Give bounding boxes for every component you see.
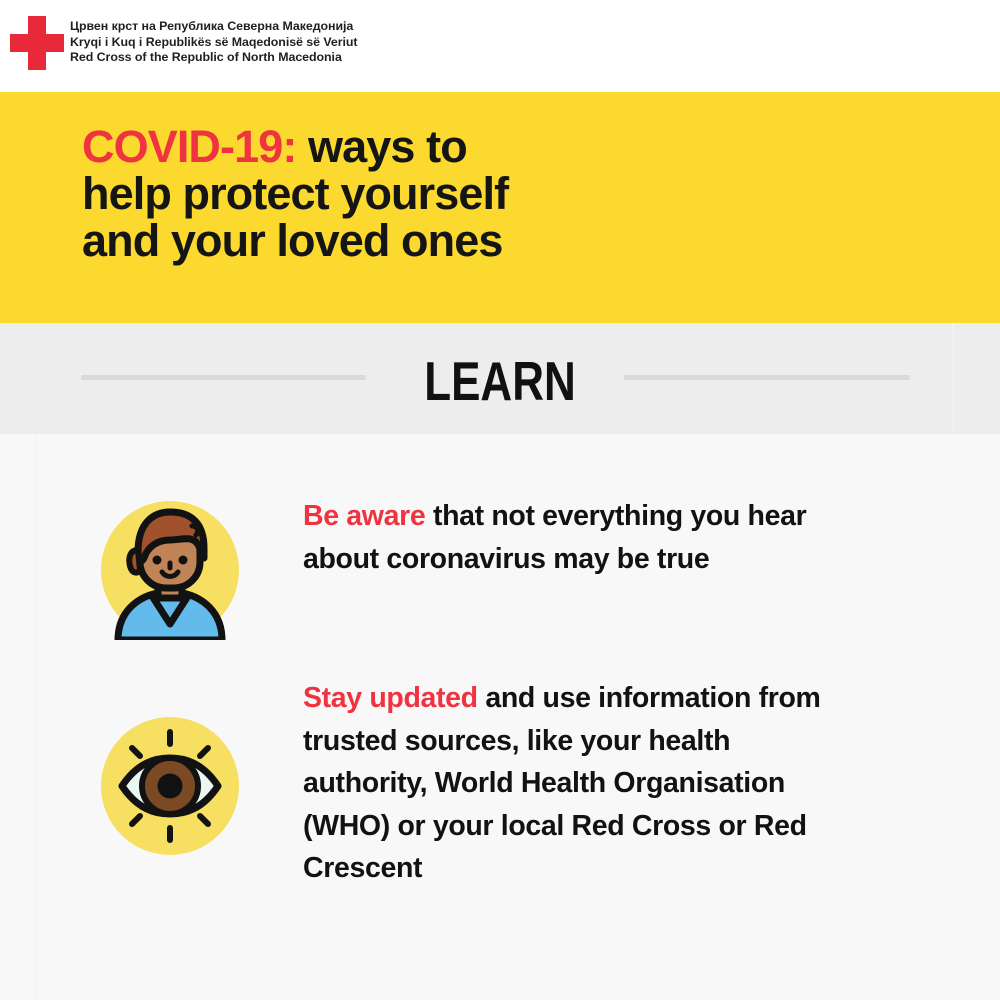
headline-line1-rest: ways to <box>296 121 466 172</box>
organisation-name-mk: Црвен крст на Република Северна Македони… <box>70 19 358 35</box>
tip-text: Be aware that not everything you hear ab… <box>245 495 855 580</box>
tip-item: Stay updated and use information from tr… <box>95 677 855 890</box>
band-seam <box>952 323 954 434</box>
tip-text: Stay updated and use information from tr… <box>245 677 855 890</box>
content-area: Be aware that not everything you hear ab… <box>0 434 1000 1000</box>
divider-rule-right <box>624 375 910 380</box>
eye-icon <box>100 716 240 856</box>
headline-accent: COVID-19: <box>82 121 296 172</box>
tip-accent: Stay updated <box>303 682 478 714</box>
tip-icon-slot <box>95 677 245 856</box>
cross-vertical-bar <box>28 16 46 70</box>
tip-accent: Be aware <box>303 500 425 532</box>
logo-bar: Црвен крст на Република Северна Македони… <box>0 0 1000 92</box>
page-title: COVID-19: ways to help protect yourself … <box>82 123 942 264</box>
headline-band: COVID-19: ways to help protect yourself … <box>0 92 1000 323</box>
headline-line3: and your loved ones <box>82 215 503 266</box>
tip-icon-slot <box>95 495 245 640</box>
red-cross-logo <box>0 0 70 70</box>
organisation-name-sq: Kryqi i Kuq i Republikës së Maqedonisë s… <box>70 35 358 51</box>
tip-item: Be aware that not everything you hear ab… <box>95 495 855 640</box>
divider-rule-left <box>81 375 366 380</box>
organisation-name: Црвен крст на Република Северна Македони… <box>70 0 358 66</box>
content-seam <box>35 434 37 1000</box>
red-cross-icon <box>10 16 64 70</box>
section-title: LEARN <box>100 349 900 413</box>
headline-line2: help protect yourself <box>82 168 508 219</box>
organisation-name-en: Red Cross of the Republic of North Maced… <box>70 50 358 66</box>
person-icon <box>100 500 240 640</box>
